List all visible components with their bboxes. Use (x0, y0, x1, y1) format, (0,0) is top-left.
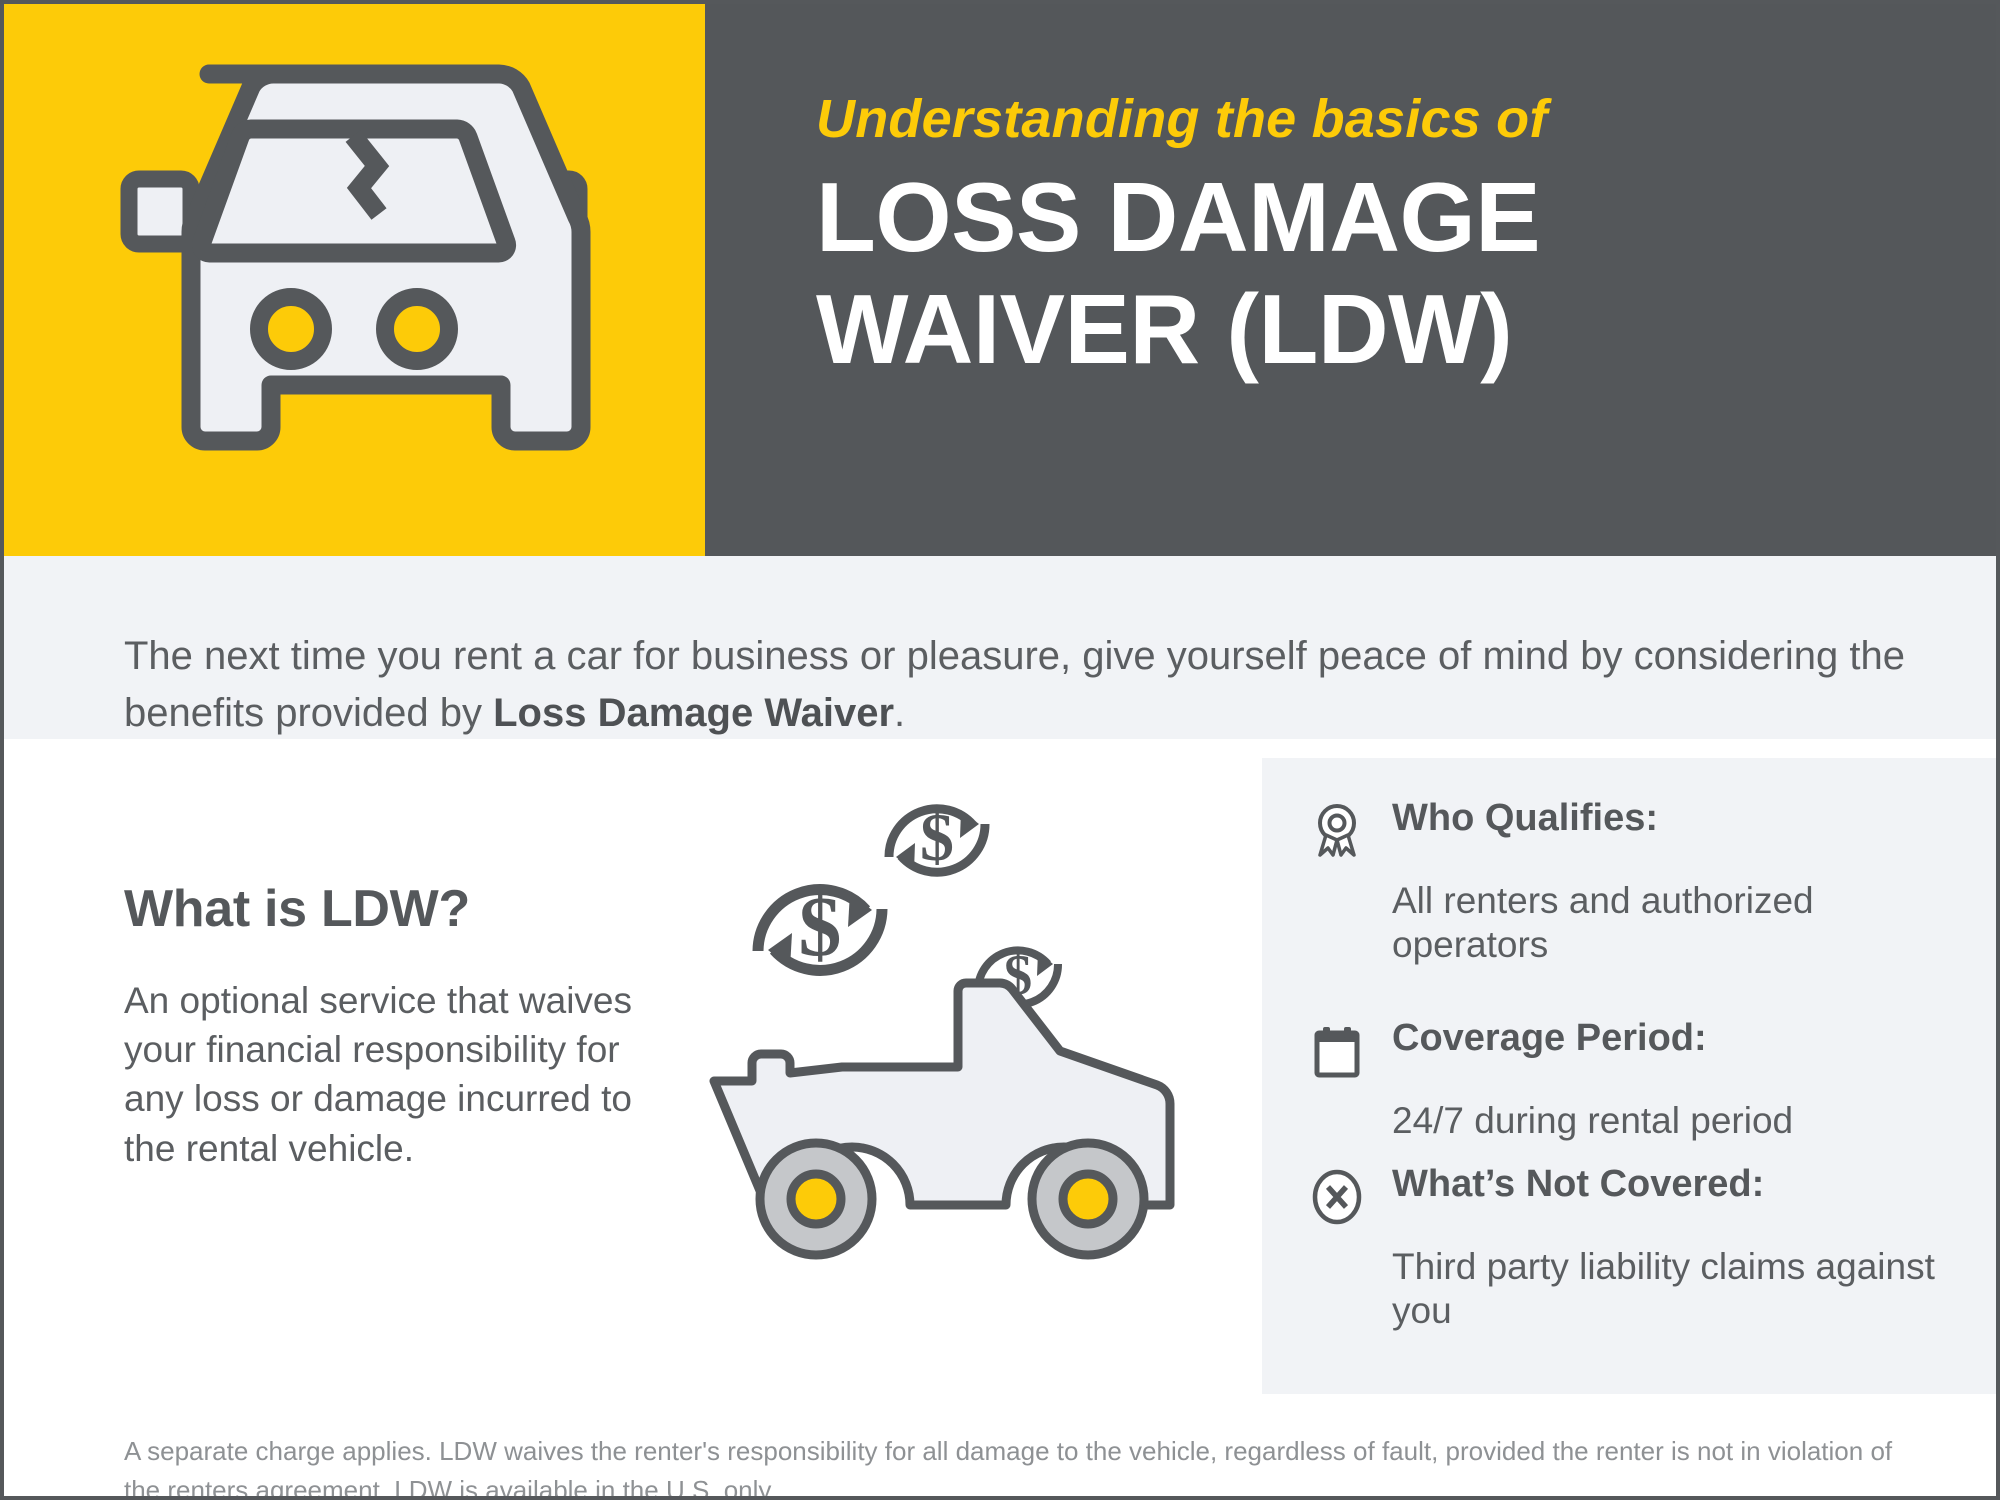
infographic-page: Understanding the basics of LOSS DAMAGE … (0, 0, 2000, 1500)
footer-disclaimer-band: A separate charge applies. LDW waives th… (4, 1394, 1996, 1496)
header-title-line-2: WAIVER (LDW) (816, 274, 1956, 386)
main-content: What is LDW? An optional service that wa… (4, 739, 1996, 1394)
fact-description: 24/7 during rental period (1392, 1099, 1978, 1143)
what-is-ldw-body: An optional service that waives your fin… (124, 976, 684, 1173)
what-is-ldw-heading: What is LDW? (124, 879, 684, 939)
intro-paragraph: The next time you rent a car for busines… (124, 628, 1924, 742)
dollar-cycle-icon-top: $ (889, 799, 985, 875)
header-eyebrow: Understanding the basics of (816, 92, 1956, 146)
intro-text-bold: Loss Damage Waiver (493, 691, 894, 735)
intro-text-part1: The next time you rent a car for busines… (124, 634, 1905, 735)
header-title-line-1: LOSS DAMAGE (816, 162, 1956, 274)
award-ribbon-icon (1308, 802, 1366, 860)
fact-title: Coverage Period: (1392, 1016, 1978, 1062)
fact-description: All renters and authorized operators (1392, 879, 1978, 968)
header-yellow-panel (4, 4, 705, 556)
fact-text-group: Coverage Period: 24/7 during rental peri… (1392, 1016, 1978, 1180)
fact-who-qualifies: Who Qualifies: All renters and authorize… (1308, 796, 1978, 1004)
pickup-truck-icon (714, 983, 1170, 1255)
fact-description: Third party liability claims against you (1392, 1245, 1978, 1334)
fact-title: What’s Not Covered: (1392, 1162, 1978, 1208)
footer-disclaimer-text: A separate charge applies. LDW waives th… (124, 1432, 1914, 1500)
fact-title: Who Qualifies: (1392, 796, 1978, 842)
pickup-truck-with-dollar-cycle-icons: $ $ $ (694, 759, 1264, 1379)
calendar-icon (1308, 1022, 1366, 1080)
circle-x-icon (1308, 1168, 1366, 1226)
dollar-cycle-icon-large: $ (758, 878, 882, 974)
header-text-group: Understanding the basics of LOSS DAMAGE … (816, 92, 1956, 385)
svg-text:$: $ (920, 799, 954, 875)
facts-panel: Who Qualifies: All renters and authorize… (1262, 758, 1996, 1398)
what-is-ldw-block: What is LDW? An optional service that wa… (124, 879, 684, 1210)
svg-text:$: $ (799, 878, 842, 974)
intro-text-part2: . (894, 691, 905, 735)
fact-whats-not-covered: What’s Not Covered: Third party liabilit… (1308, 1162, 1978, 1370)
fact-coverage-period: Coverage Period: 24/7 during rental peri… (1308, 1016, 1978, 1180)
car-front-cracked-windshield-icon (99, 64, 609, 494)
intro-band: The next time you rent a car for busines… (4, 556, 1996, 739)
header-banner: Understanding the basics of LOSS DAMAGE … (4, 4, 1996, 556)
fact-text-group: Who Qualifies: All renters and authorize… (1392, 796, 1978, 1004)
fact-text-group: What’s Not Covered: Third party liabilit… (1392, 1162, 1978, 1370)
